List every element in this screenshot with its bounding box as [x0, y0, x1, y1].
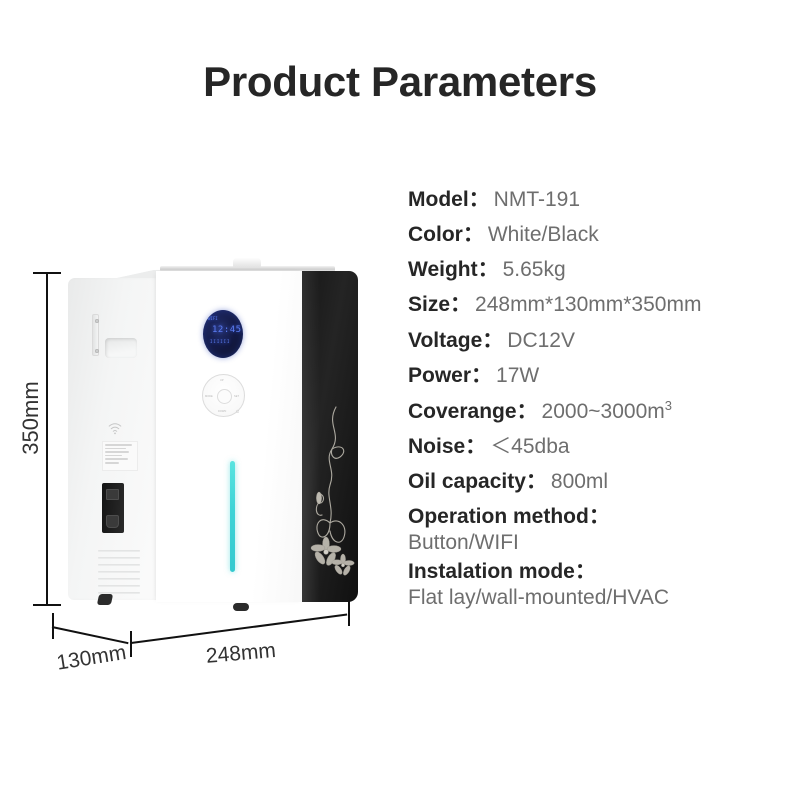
product-parameters-page: Product Parameters 350mm 130mm 248mm: [0, 0, 800, 800]
height-dimension-label: 350mm: [18, 368, 44, 468]
label-text-line: [105, 451, 129, 453]
parameter-row-weight: Weight：5.65kg: [408, 258, 796, 282]
device-foot: [233, 603, 249, 611]
hinge-bracket: [92, 314, 99, 356]
control-pad[interactable]: UP DOWN MODE SET ⏻: [202, 374, 245, 417]
parameter-value-size: 248mm*130mm*350mm: [475, 293, 701, 316]
parameter-value-model: NMT-191: [494, 188, 580, 211]
page-title: Product Parameters: [0, 58, 800, 106]
parameter-row-power: Power：17W: [408, 364, 796, 388]
parameter-row-instalation-mode: Instalation mode：Flat lay/wall-mounted/H…: [408, 560, 796, 610]
power-socket: [106, 515, 119, 528]
parameter-label-color: Color：: [408, 223, 484, 246]
lcd-mode-text: WIFI: [208, 316, 218, 321]
power-button[interactable]: ⏻: [217, 389, 232, 404]
vent-slot: [98, 564, 140, 566]
lcd-bars-text: IIIIII: [210, 339, 230, 344]
parameter-value-color: White/Black: [488, 223, 599, 246]
nozzle-cap-icon: [233, 258, 261, 267]
lcd-display: WIFI 12:45 IIIIII: [203, 310, 243, 358]
depth-dimension-cap-left: [52, 613, 54, 639]
power-icon: ⏻: [236, 409, 239, 414]
parameter-value-operation-method: Button/WIFI: [408, 531, 796, 555]
floral-decoration-icon: [306, 403, 358, 578]
parameter-label-voltage: Voltage：: [408, 329, 503, 352]
led-indicator-strip: [230, 461, 235, 572]
parameter-row-size: Size：248mm*130mm*350mm: [408, 293, 796, 317]
depth-dimension-cap-middle: [130, 631, 132, 657]
label-text-line: [105, 455, 122, 457]
hinge-screw-icon: [95, 319, 99, 323]
parameter-row-oil-capacity: Oil capacity：800ml: [408, 470, 796, 494]
parameter-value-instalation-mode: Flat lay/wall-mounted/HVAC: [408, 586, 796, 610]
height-dimension-line: [46, 272, 48, 604]
lcd-time-text: 12:45: [212, 325, 242, 335]
parameter-label-size: Size：: [408, 293, 471, 316]
parameter-label-operation-method: Operation method：: [408, 505, 610, 528]
aroma-diffuser-device: WIFI 12:45 IIIIII UP DOWN MODE SET ⏻: [68, 258, 363, 613]
vent-slot: [98, 585, 140, 587]
parameter-list: Model：NMT-191Color：White/BlackWeight：5.6…: [408, 188, 796, 614]
parameter-row-voltage: Voltage：DC12V: [408, 329, 796, 353]
height-dimension-cap-top: [33, 272, 61, 274]
parameter-row-operation-method: Operation method：Button/WIFI: [408, 505, 796, 555]
label-text-line: [105, 448, 126, 450]
label-text-line: [105, 462, 119, 464]
parameter-label-model: Model：: [408, 188, 490, 211]
vent-slot: [98, 571, 140, 573]
parameter-label-instalation-mode: Instalation mode：: [408, 560, 596, 583]
parameter-label-coverange: Coverange：: [408, 400, 538, 423]
rating-label: [102, 441, 138, 471]
parameter-label-power: Power：: [408, 364, 492, 387]
vent-slot: [98, 578, 140, 580]
parameter-row-color: Color：White/Black: [408, 223, 796, 247]
vent-slot: [98, 557, 140, 559]
device-foot: [97, 594, 113, 605]
device-side-face: [68, 278, 158, 600]
parameter-value-noise: ＜45dba: [490, 435, 569, 458]
parameter-value-weight: 5.65kg: [503, 258, 566, 281]
control-mode-label[interactable]: MODE: [205, 395, 213, 398]
wifi-icon: [108, 423, 122, 435]
control-set-label[interactable]: SET: [234, 395, 239, 398]
label-text-line: [105, 458, 128, 460]
parameter-row-coverange: Coverange：2000~3000m3: [408, 399, 796, 424]
parameter-label-weight: Weight：: [408, 258, 499, 281]
parameter-value-coverange: 2000~3000m3: [542, 400, 672, 423]
recessed-handle: [105, 338, 137, 358]
vent-slot: [98, 550, 140, 552]
parameter-row-model: Model：NMT-191: [408, 188, 796, 212]
label-text-line: [105, 444, 132, 446]
height-dimension-cap-bottom: [33, 604, 61, 606]
control-down-label[interactable]: DOWN: [218, 410, 226, 413]
parameter-label-noise: Noise：: [408, 435, 486, 458]
parameter-row-noise: Noise：＜45dba: [408, 435, 796, 459]
power-inlet-module[interactable]: [102, 483, 124, 533]
hinge-screw-icon: [95, 349, 99, 353]
parameter-value-voltage: DC12V: [507, 329, 575, 352]
parameter-value-oil-capacity: 800ml: [551, 470, 608, 493]
parameter-value-power: 17W: [496, 364, 539, 387]
parameter-label-oil-capacity: Oil capacity：: [408, 470, 547, 493]
parameter-value-superscript-coverange: 3: [665, 398, 672, 413]
control-up-label[interactable]: UP: [220, 379, 224, 382]
power-switch[interactable]: [106, 489, 119, 500]
